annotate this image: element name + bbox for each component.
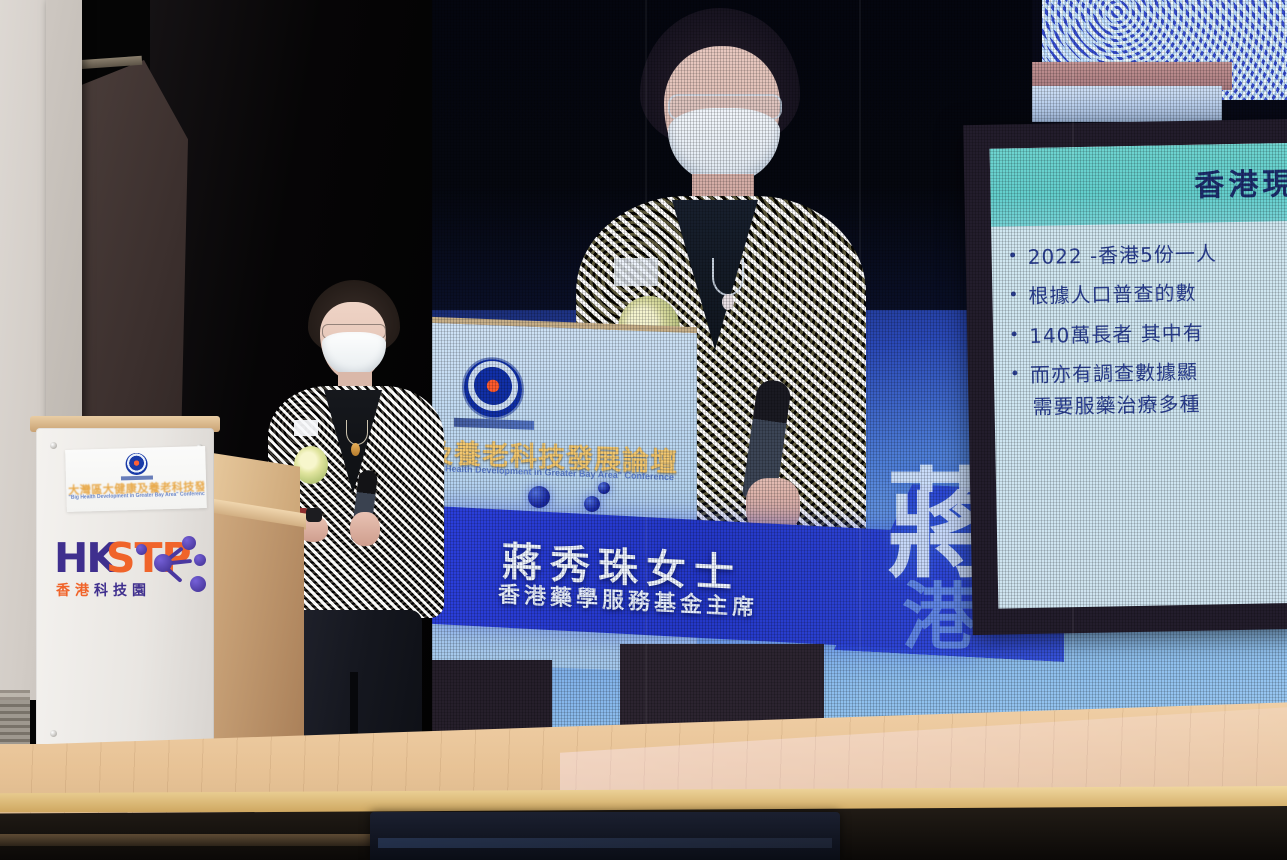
decorative-orb [598, 482, 610, 494]
led-wall-screen: 及養老科技發展論壇 Big Health Development in Grea… [432, 0, 1287, 752]
video-speaker-necklace [712, 258, 744, 296]
stage-front-rail [0, 834, 380, 846]
slide-bullet-text: 140萬長者 其中有 [1029, 319, 1204, 349]
podium-screw [50, 442, 57, 449]
slide-bullet-item: • 根據人口普查的數 [1008, 278, 1287, 311]
podium-screw [50, 730, 57, 737]
hkstp-logo: HK STP 香港科技園 [54, 532, 210, 614]
speaker-name-badge [294, 420, 318, 436]
video-speaker-face-mask [668, 108, 780, 184]
speaker-pendant [351, 443, 360, 456]
conference-emblem-icon [125, 453, 148, 476]
inset-video-thumbnail [1032, 0, 1287, 124]
slide-title: 香港現 [1194, 159, 1287, 205]
bullet-marker-icon: • [1007, 244, 1019, 269]
slide-bullet-text: 2022 -香港5份一人 [1027, 240, 1217, 270]
led-panel-seam [645, 0, 647, 752]
foreground-monitor [370, 812, 840, 860]
hkstp-logo-chinese-orange: 香港 [56, 583, 94, 599]
conference-emblem-icon [464, 358, 522, 418]
presentation-clicker [306, 508, 322, 522]
slide-bullet-continuation: 需要服藥治療多種 [1010, 388, 1287, 421]
decorative-orb [584, 496, 600, 512]
speaker-podium: 大灣區大健康及養老科技發展論壇 "Big Health Development … [32, 420, 218, 770]
podium-conference-banner: 大灣區大健康及養老科技發展論壇 "Big Health Development … [65, 446, 207, 512]
speaker-necklace [346, 420, 368, 445]
bullet-marker-icon: • [1008, 284, 1020, 309]
slide-content-area: 香港現 • 2022 -香港5份一人 • 根據人口普查的數 • 140萬長者 其… [990, 143, 1287, 609]
led-panel-seam [1072, 0, 1074, 752]
slide-bullet-item: • 140萬長者 其中有 [1009, 317, 1287, 350]
slide-bullet-item: • 2022 -香港5份一人 [1007, 238, 1287, 271]
led-panel-seam [859, 0, 861, 752]
presentation-stage-photo: 及養老科技發展論壇 Big Health Development in Grea… [0, 0, 1287, 860]
decorative-orb [528, 486, 550, 508]
podium-side-panel [212, 513, 304, 766]
slide-bullet-text: 根據人口普查的數 [1028, 280, 1196, 310]
video-speaker-name-badge [614, 258, 658, 286]
hkstp-logo-chinese-purple: 科技園 [94, 583, 151, 599]
slide-bullet-item: • 而亦有調查數據顯 [1010, 356, 1287, 389]
conference-emblem-underline [454, 418, 534, 430]
slide-bullet-text: 而亦有調查數據顯 [1030, 359, 1198, 389]
hkstp-logo-chinese: 香港科技園 [56, 580, 151, 600]
foreground-monitor-screen [378, 838, 832, 848]
presentation-slide-panel: 香港現 • 2022 -香港5份一人 • 根據人口普查的數 • 140萬長者 其… [963, 119, 1287, 635]
slide-bullet-list: • 2022 -香港5份一人 • 根據人口普查的數 • 140萬長者 其中有 •… [1007, 238, 1287, 598]
speaker-right-hand [350, 512, 380, 546]
inset-video-podium-body [1032, 86, 1222, 122]
bullet-marker-icon: • [1010, 362, 1022, 387]
bullet-marker-icon: • [1009, 323, 1021, 348]
video-speaker-pendant [722, 294, 734, 310]
